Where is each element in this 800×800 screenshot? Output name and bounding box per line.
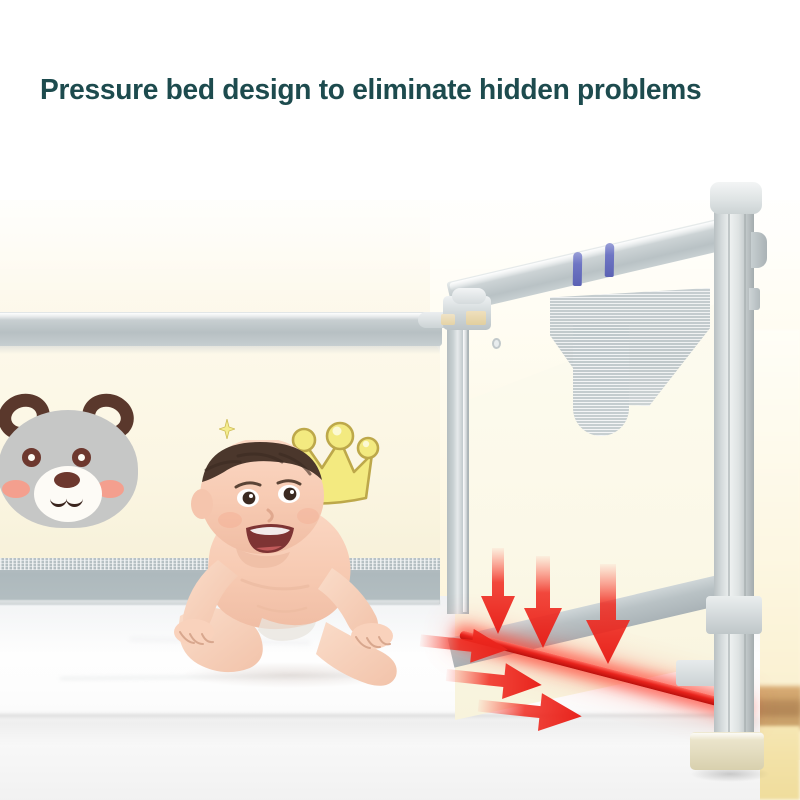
screw-icon [492, 338, 501, 349]
product-image-canvas: Pressure bed design to eliminate hidden … [0, 0, 800, 800]
adjustment-knob[interactable] [751, 232, 767, 268]
down-arrow-2 [524, 556, 562, 648]
pressure-foot-highlight [690, 733, 764, 740]
post-tab [749, 288, 760, 310]
down-arrow-1 [481, 548, 515, 634]
right-post-cap [710, 182, 762, 214]
right-post-seam [728, 210, 730, 762]
bear-mouth [50, 490, 84, 508]
page-title: Pressure bed design to eliminate hidden … [40, 74, 748, 107]
right-post-seam [744, 210, 746, 762]
down-arrow-3 [586, 564, 630, 664]
bear-cheek-left [2, 480, 30, 498]
corner-hinge-tan-secondary [441, 314, 455, 325]
bear-nose [54, 472, 80, 488]
corner-joint-cap [452, 288, 486, 304]
right-rail-mesh-drop-texture [573, 324, 629, 436]
bear-face-graphic [0, 392, 142, 532]
bear-eye-right [72, 448, 91, 467]
right-post-collar [706, 596, 762, 634]
right-vertical-post[interactable] [714, 196, 754, 766]
left-rail-top-bar-highlight [0, 313, 442, 320]
blue-pin-right[interactable] [605, 243, 615, 277]
corner-post-highlight [463, 316, 467, 612]
baby-illustration [150, 440, 430, 700]
corner-hinge-tan [466, 311, 486, 325]
bear-eye-left [22, 448, 41, 467]
blue-pin-left[interactable] [573, 252, 583, 286]
sparkle-graphic [219, 419, 235, 439]
